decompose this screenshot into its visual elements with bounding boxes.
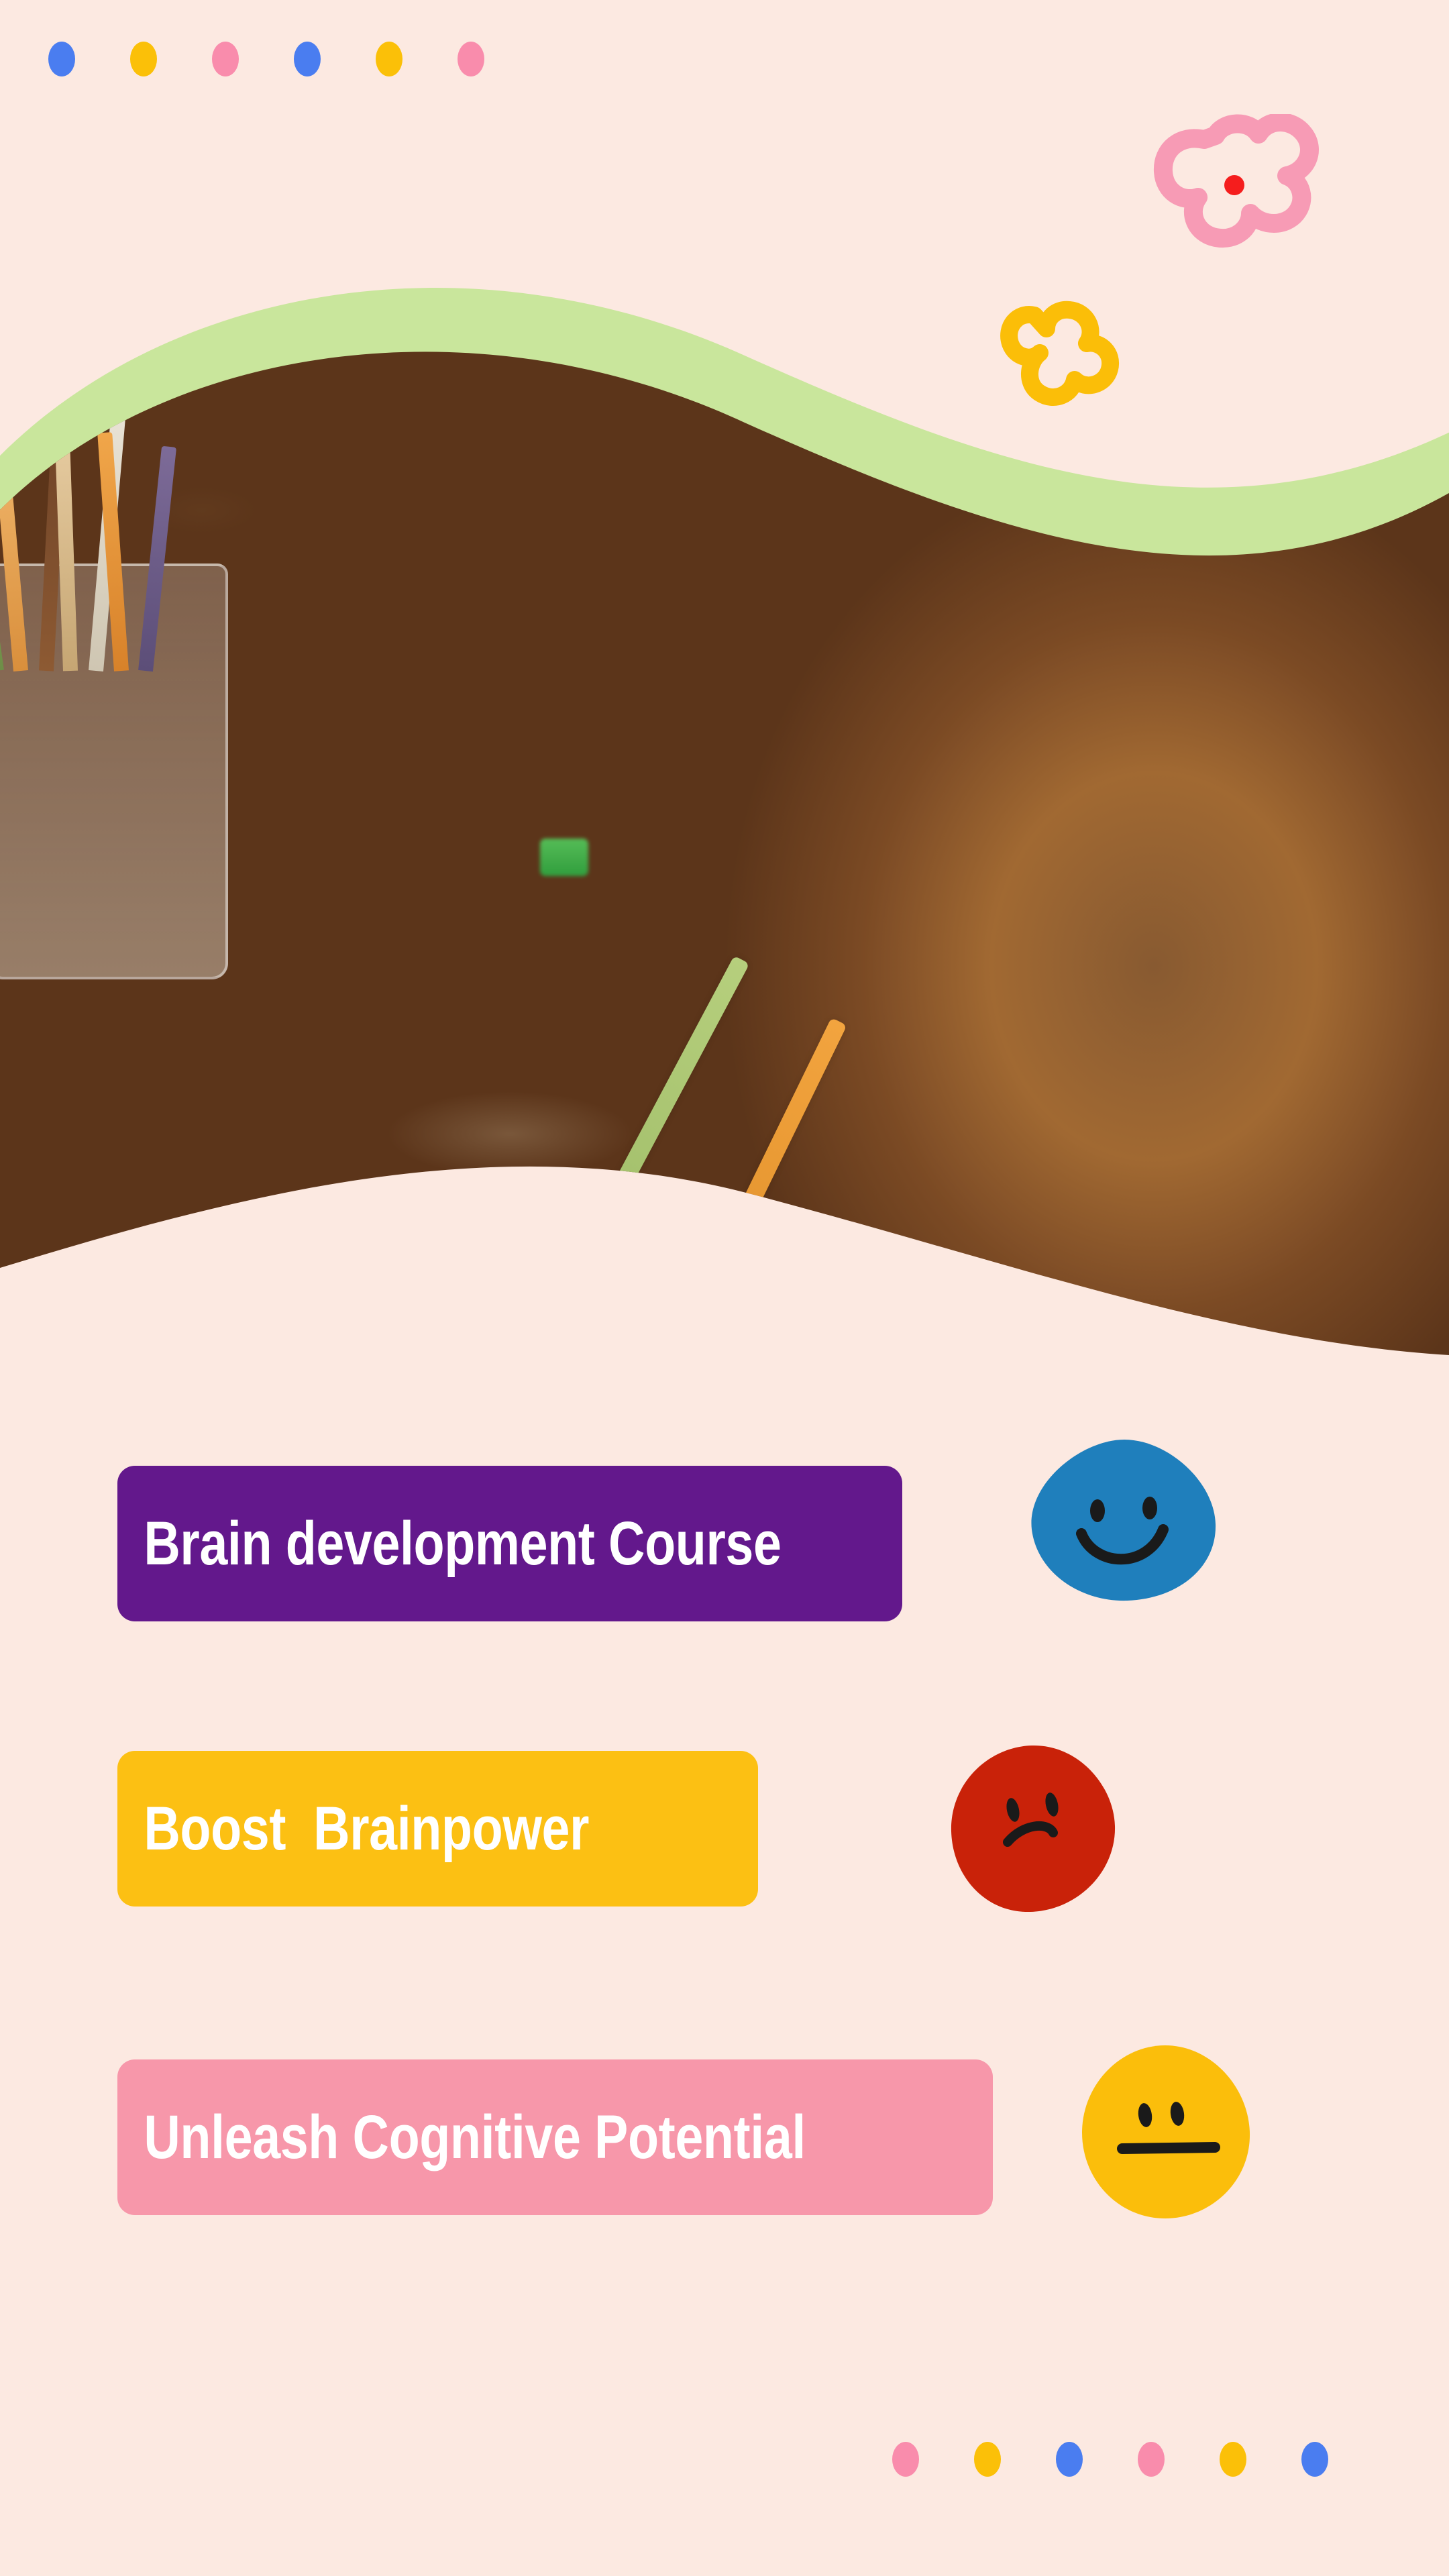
row-boost-brainpower: Boost Brainpower bbox=[117, 1751, 758, 1907]
pencil bbox=[55, 436, 78, 672]
pencil bbox=[138, 446, 176, 672]
poster-canvas: Brain development Course Boost Brainpowe… bbox=[0, 0, 1449, 2576]
green-sharpener bbox=[540, 839, 588, 876]
pill-label: Unleash Cognitive Potential bbox=[117, 2102, 806, 2173]
dot-pink-icon bbox=[892, 2442, 919, 2477]
pill-brain-development-course[interactable]: Brain development Course bbox=[117, 1466, 902, 1621]
dot-blue-icon bbox=[294, 42, 321, 76]
smiley-face-blue-icon bbox=[1025, 1436, 1220, 1607]
dot-yellow-icon bbox=[130, 42, 157, 76]
neutral-face-yellow-icon bbox=[1077, 2043, 1256, 2226]
pill-boost-brainpower[interactable]: Boost Brainpower bbox=[117, 1751, 758, 1907]
flower-pink-icon bbox=[1140, 114, 1348, 248]
dot-yellow-icon bbox=[974, 2442, 1001, 2477]
dot-pink-icon bbox=[1138, 2442, 1165, 2477]
dot-yellow-icon bbox=[1220, 2442, 1246, 2477]
dot-pink-icon bbox=[458, 42, 484, 76]
pill-unleash-cognitive-potential[interactable]: Unleash Cognitive Potential bbox=[117, 2059, 993, 2215]
dot-blue-icon bbox=[48, 42, 75, 76]
dot-blue-icon bbox=[1301, 2442, 1328, 2477]
dot-blue-icon bbox=[1056, 2442, 1083, 2477]
pill-label: Boost Brainpower bbox=[117, 1794, 589, 1864]
dot-pink-icon bbox=[212, 42, 239, 76]
row-brain-development-course: Brain development Course bbox=[117, 1466, 902, 1621]
top-dot-row bbox=[48, 42, 484, 76]
dot-yellow-icon bbox=[376, 42, 402, 76]
hero-photo-section bbox=[0, 268, 1449, 1355]
row-unleash-cognitive-potential: Unleash Cognitive Potential bbox=[117, 2059, 993, 2215]
sad-face-red-icon bbox=[946, 1743, 1122, 1919]
pill-label: Brain development Course bbox=[117, 1509, 782, 1579]
bottom-dot-row bbox=[892, 2442, 1328, 2477]
